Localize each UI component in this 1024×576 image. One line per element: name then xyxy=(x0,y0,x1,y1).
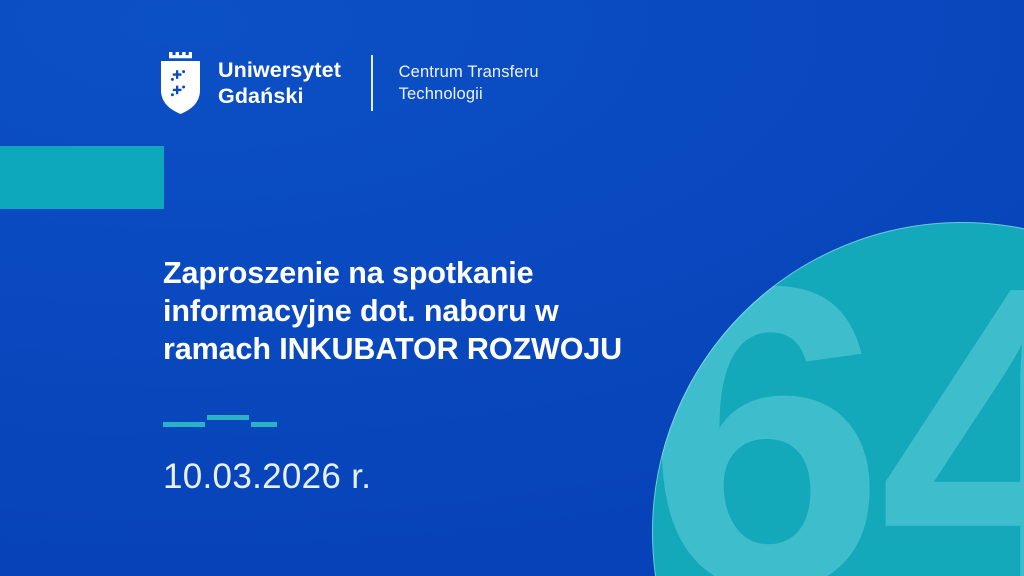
unit-name: Centrum Transferu Technologii xyxy=(399,61,539,105)
circle-disc: 64 xyxy=(652,222,1024,576)
logo-lockup: Uniwersytet Gdański Centrum Transferu Te… xyxy=(156,52,539,114)
slide-canvas: 64 Uniwersytet Gdański Centrum xyxy=(0,0,1024,576)
circle-digits-text: 64 xyxy=(652,228,1024,576)
dash-segment-middle xyxy=(207,415,249,420)
circle-outline-ring xyxy=(652,222,1024,576)
dash-segment-left xyxy=(163,422,205,427)
dash-segment-right xyxy=(251,422,277,427)
event-date: 10.03.2026 r. xyxy=(163,458,683,497)
decorative-circle-graphic: 64 xyxy=(652,222,1024,576)
teal-accent-block xyxy=(0,146,164,209)
brand-name: Uniwersytet Gdański xyxy=(218,57,341,109)
slide-headline: Zaproszenie na spotkanie informacyjne do… xyxy=(163,255,683,368)
decorative-dash-rule xyxy=(163,414,283,428)
slide-content: Zaproszenie na spotkanie informacyjne do… xyxy=(163,255,683,497)
uniwersytet-gdanski-shield-icon xyxy=(156,52,204,114)
logo-divider xyxy=(371,55,373,111)
